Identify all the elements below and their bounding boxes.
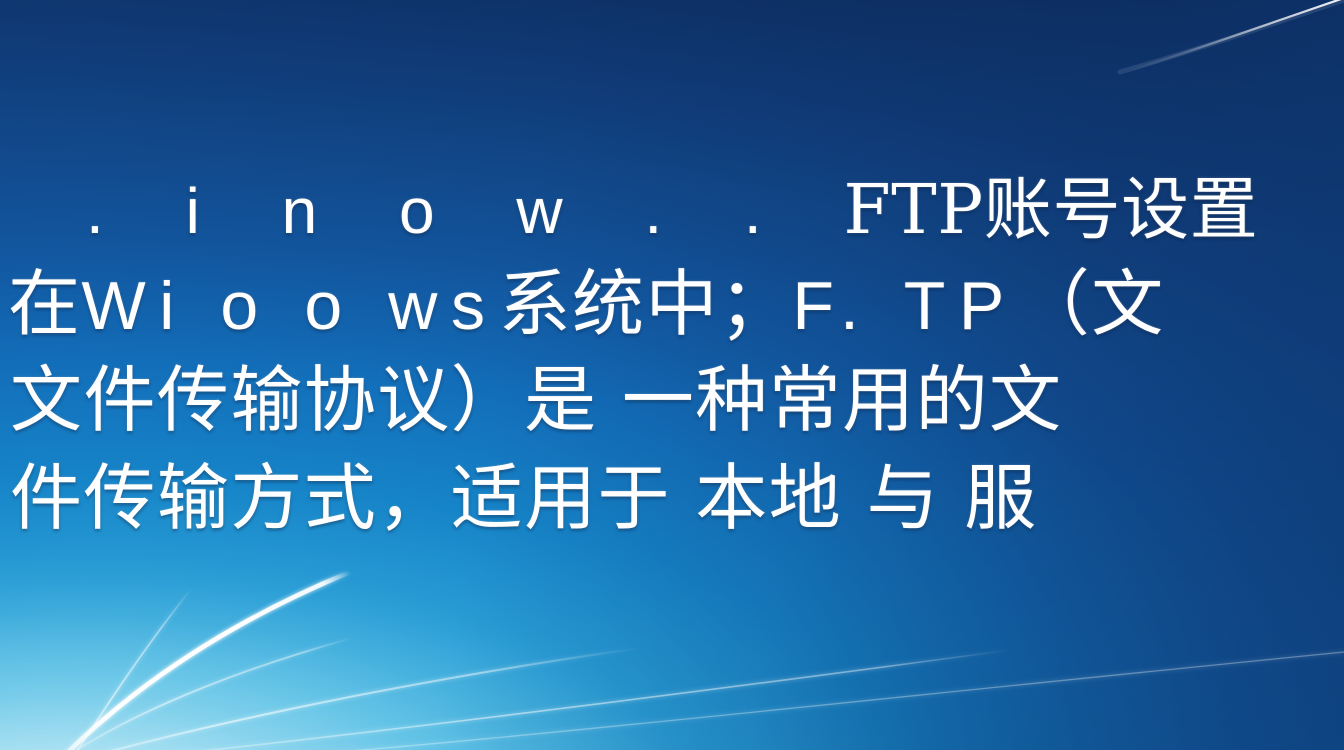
line2-han-middle: 系统中； [499, 262, 793, 346]
line2-han-suffix: （文 [1018, 262, 1165, 346]
line4-han-text: 件传输方式，适用于 本地 与 服 [10, 456, 1038, 540]
line2-latin-ftp: F. TP [792, 268, 1017, 344]
text-line-3: 文件传输协议）是 一种常用的文 [10, 364, 1063, 437]
line1-han-text: FTP账号设置 [843, 171, 1258, 250]
line3-han-text: 文件传输协议）是 一种常用的文 [10, 358, 1063, 442]
text-line-1: . i n o w . . FTP账号设置 [86, 176, 1259, 245]
line2-latin-windows: Wi o o ws [81, 268, 498, 344]
line1-latin-text: . i n o w . . [86, 175, 843, 247]
text-line-4: 件传输方式，适用于 本地 与 服 [10, 462, 1038, 535]
text-line-2: 在Wi o o ws系统中；F. TP（文 [8, 268, 1165, 341]
slide-canvas: . i n o w . . FTP账号设置 在Wi o o ws系统中；F. T… [0, 0, 1344, 750]
line2-han-prefix: 在 [8, 262, 81, 346]
